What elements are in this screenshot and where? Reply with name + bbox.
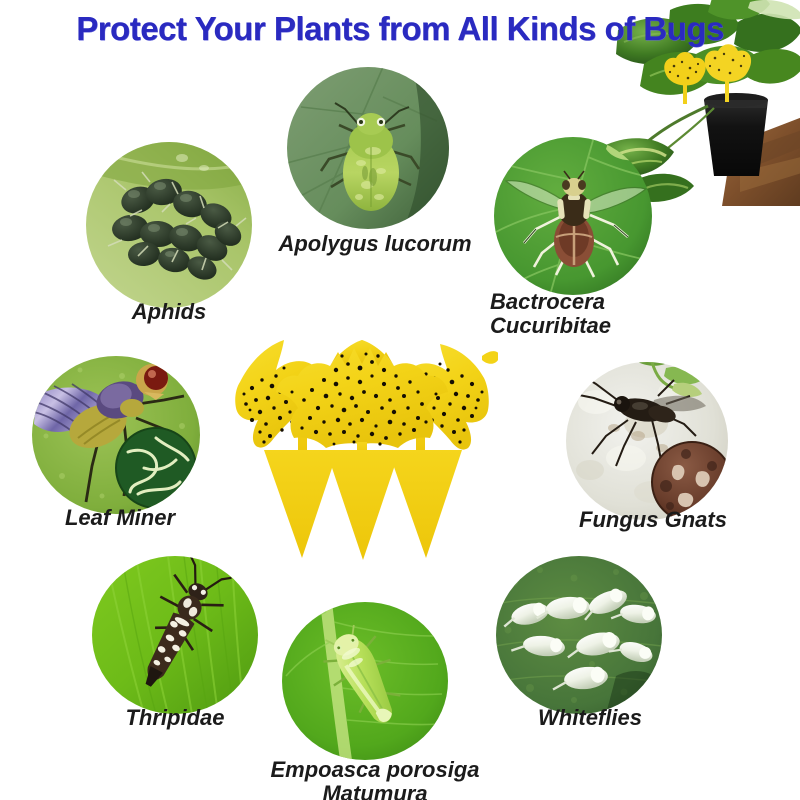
butterfly-sticky-trap-product — [226, 322, 498, 562]
pest-label-fungus-gnats: Fungus Gnats — [548, 508, 758, 532]
pest-label-aphids: Aphids — [49, 300, 289, 324]
leaf-miner-photo — [32, 356, 200, 514]
page-title: Protect Your Plants from All Kinds of Bu… — [0, 10, 800, 48]
fungus-gnats-photo — [566, 362, 728, 520]
pest-label-apolygus-lucorum: Apolygus lucorum — [275, 232, 475, 256]
infographic-canvas: Protect Your Plants from All Kinds of Bu… — [0, 0, 800, 800]
thripidae-photo — [92, 556, 258, 714]
whiteflies-photo — [496, 556, 662, 714]
pest-label-leaf-miner: Leaf Miner — [20, 506, 220, 530]
apolygus-lucorum-photo — [287, 67, 449, 229]
pest-label-bactrocera-cucuribitae: Bactrocera Cucuribitae — [490, 290, 680, 338]
bactrocera-cucuribitae-photo — [494, 137, 652, 295]
empoasca-porosiga-matumura-photo — [282, 602, 448, 760]
pest-label-thripidae: Thripidae — [75, 706, 275, 730]
pest-label-whiteflies: Whiteflies — [500, 706, 680, 730]
aphids-photo — [86, 142, 252, 308]
pest-label-empoasca-porosiga-matumura: Empoasca porosiga Matumura — [255, 758, 495, 800]
